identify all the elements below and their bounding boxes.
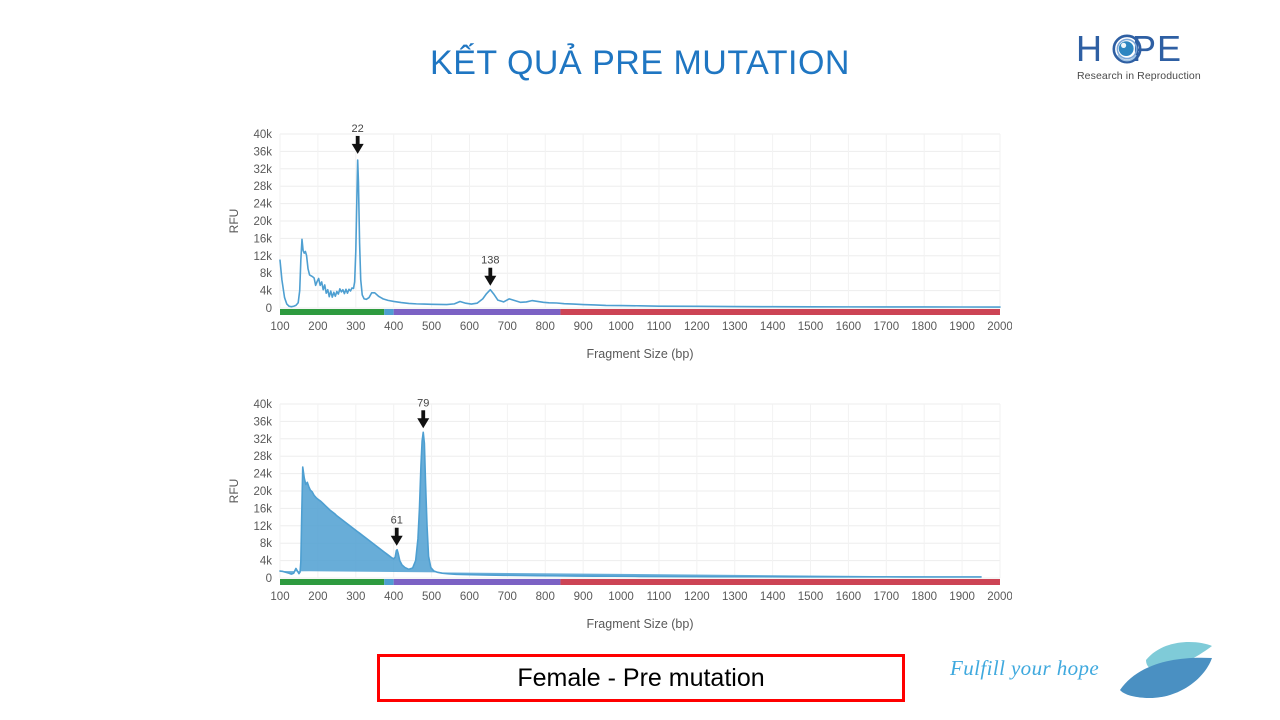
y-axis-tick-label: 12k <box>253 521 272 533</box>
x-axis-tick-label: 600 <box>460 321 479 333</box>
y-axis-tick-label: 0 <box>266 303 272 315</box>
x-axis-tick-label: 300 <box>346 321 365 333</box>
x-axis-tick-label: 200 <box>308 321 327 333</box>
arrow-stem <box>421 410 425 419</box>
y-axis-tick-label: 12k <box>253 251 272 263</box>
x-axis-tick-label: 1400 <box>760 321 786 333</box>
x-axis-tick-label: 600 <box>460 591 479 603</box>
x-axis-title: Fragment Size (bp) <box>587 347 694 361</box>
x-axis-tick-label: 2000 <box>987 321 1012 333</box>
y-axis-tick-label: 8k <box>260 268 272 280</box>
x-axis-tick-label: 100 <box>270 321 289 333</box>
y-axis-tick-label: 36k <box>253 146 272 158</box>
y-axis-title: RFU <box>227 479 241 504</box>
x-axis-tick-label: 500 <box>422 591 441 603</box>
marker-band <box>560 579 1000 585</box>
x-axis-tick-label: 1200 <box>684 321 710 333</box>
arrow-stem <box>488 268 492 277</box>
y-axis-title: RFU <box>227 209 241 234</box>
x-axis-tick-label: 1500 <box>798 321 824 333</box>
electropherogram-chart-top: 04k8k12k16k20k24k28k32k36k40kRFU22138100… <box>222 120 1012 370</box>
marker-band <box>280 309 384 315</box>
leaf-logo-icon <box>1112 640 1218 702</box>
x-axis-tick-label: 200 <box>308 591 327 603</box>
x-axis-tick-label: 1300 <box>722 321 748 333</box>
x-axis-tick-label: 1200 <box>684 591 710 603</box>
caption-text: Female - Pre mutation <box>517 664 764 693</box>
logo-letters-before: H <box>1076 28 1103 69</box>
y-axis-tick-label: 20k <box>253 216 272 228</box>
peak-annotation-label: 138 <box>481 255 499 267</box>
x-axis-tick-label: 900 <box>574 321 593 333</box>
y-axis-tick-label: 36k <box>253 416 272 428</box>
x-axis-tick-label: 1400 <box>760 591 786 603</box>
x-axis-title: Fragment Size (bp) <box>587 617 694 631</box>
y-axis-tick-label: 40k <box>253 399 272 411</box>
x-axis-tick-label: 1700 <box>874 591 900 603</box>
x-axis-tick-label: 1100 <box>647 591 672 603</box>
y-axis-tick-label: 24k <box>253 469 272 481</box>
x-axis-tick-label: 1700 <box>874 321 900 333</box>
x-axis-tick-label: 700 <box>498 321 517 333</box>
arrow-stem <box>395 528 399 537</box>
x-axis-tick-label: 800 <box>536 321 555 333</box>
x-axis-tick-label: 100 <box>270 591 289 603</box>
peak-annotation-label: 22 <box>352 123 364 135</box>
y-axis-tick-label: 16k <box>253 233 272 245</box>
peak-annotation-label: 79 <box>417 397 429 409</box>
electropherogram-chart-bottom: 04k8k12k16k20k24k28k32k36k40kRFU61791002… <box>222 390 1012 640</box>
marker-band <box>560 309 1000 315</box>
logo-wordmark: HOPE <box>1076 30 1224 68</box>
y-axis-tick-label: 0 <box>266 573 272 585</box>
logo-tagline: Research in Reproduction <box>1077 70 1201 82</box>
x-axis-tick-label: 1300 <box>722 591 748 603</box>
peak-annotation-label: 61 <box>391 515 403 527</box>
y-axis-tick-label: 28k <box>253 181 272 193</box>
y-axis-tick-label: 32k <box>253 434 272 446</box>
caption-box: Female - Pre mutation <box>377 654 905 702</box>
x-axis-tick-label: 400 <box>384 321 403 333</box>
x-axis-tick-label: 500 <box>422 321 441 333</box>
marker-band <box>384 309 393 315</box>
marker-band <box>384 579 393 585</box>
x-axis-tick-label: 1600 <box>836 321 862 333</box>
x-axis-tick-label: 2000 <box>987 591 1012 603</box>
x-axis-tick-label: 1800 <box>911 321 937 333</box>
arrow-stem <box>356 136 360 145</box>
x-axis-tick-label: 1900 <box>949 591 975 603</box>
y-axis-tick-label: 40k <box>253 129 272 141</box>
x-axis-tick-label: 400 <box>384 591 403 603</box>
marker-band <box>280 579 384 585</box>
footer-slogan: Fulfill your hope <box>950 656 1099 681</box>
y-axis-tick-label: 16k <box>253 503 272 515</box>
x-axis-tick-label: 1800 <box>911 591 937 603</box>
y-axis-tick-label: 20k <box>253 486 272 498</box>
y-axis-tick-label: 4k <box>260 286 272 298</box>
marker-band <box>394 309 561 315</box>
x-axis-tick-label: 1900 <box>949 321 975 333</box>
x-axis-tick-label: 300 <box>346 591 365 603</box>
chart-top-svg: 04k8k12k16k20k24k28k32k36k40kRFU22138100… <box>222 120 1012 370</box>
x-axis-tick-label: 1500 <box>798 591 824 603</box>
chart-bottom-svg: 04k8k12k16k20k24k28k32k36k40kRFU61791002… <box>222 390 1012 640</box>
x-axis-tick-label: 800 <box>536 591 555 603</box>
hope-logo: HOPE Research in Reproduction <box>1076 30 1224 88</box>
x-axis-tick-label: 1000 <box>608 591 634 603</box>
y-axis-tick-label: 24k <box>253 199 272 211</box>
x-axis-tick-label: 900 <box>574 591 593 603</box>
x-axis-tick-label: 1600 <box>836 591 862 603</box>
x-axis-tick-label: 1100 <box>647 321 672 333</box>
y-axis-tick-label: 28k <box>253 451 272 463</box>
y-axis-tick-label: 32k <box>253 164 272 176</box>
marker-band <box>394 579 561 585</box>
y-axis-tick-label: 8k <box>260 538 272 550</box>
y-axis-tick-label: 4k <box>260 556 272 568</box>
eye-icon <box>1112 34 1142 64</box>
x-axis-tick-label: 700 <box>498 591 517 603</box>
x-axis-tick-label: 1000 <box>608 321 634 333</box>
